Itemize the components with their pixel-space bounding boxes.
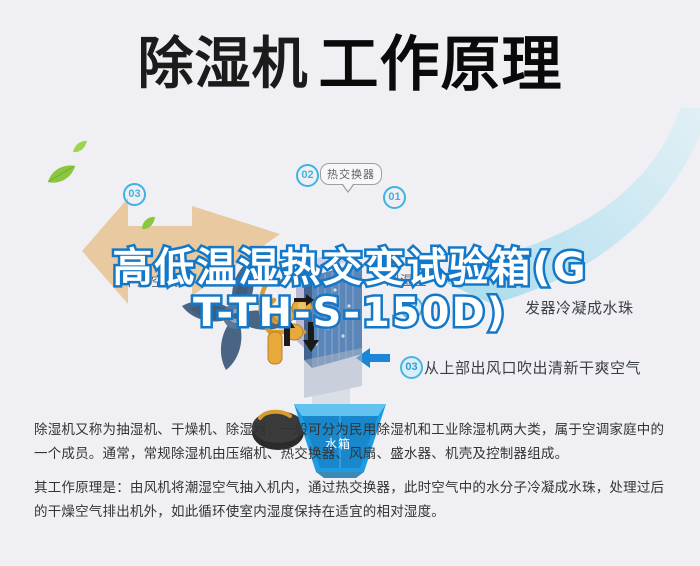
label-humid-air: 潮湿空气	[386, 270, 442, 289]
callout-badge-02: 02	[400, 296, 423, 319]
body-paragraph-2: 其工作原理是：由风机将潮湿空气抽入机内，通过热交换器，此时空气中的水分子冷凝成水…	[34, 476, 668, 524]
page-title: 除湿机 工作原理	[0, 26, 700, 104]
leaf-icon	[72, 140, 88, 154]
callout-text-condense: 发器冷凝成水珠	[525, 297, 634, 318]
leaf-icon	[46, 164, 76, 186]
diagram-badge-01: 01	[383, 186, 406, 209]
leaf-icon	[152, 256, 166, 270]
page-root: 除湿机 工作原理	[0, 0, 700, 566]
dehumidifier-diagram: 03 干燥空气 02 热交换器 01 潮湿空气 水箱	[0, 108, 700, 398]
page-title-part1: 除湿机	[138, 37, 309, 93]
callout-badge-03: 03	[400, 356, 423, 379]
article-body: 除湿机又称为抽湿机、干燥机、除湿器，一般可分为民用除湿机和工业除湿机两大类，属于…	[34, 418, 668, 534]
leaf-icon	[140, 216, 156, 231]
page-title-part2: 工作原理	[319, 35, 563, 95]
callout-text-outlet: 从上部出风口吹出清新干爽空气	[424, 357, 641, 378]
label-dry-air: 干燥空气	[123, 271, 179, 290]
diagram-badge-02: 02	[296, 164, 319, 187]
diagram-badge-03: 03	[123, 183, 146, 206]
body-paragraph-1: 除湿机又称为抽湿机、干燥机、除湿器，一般可分为民用除湿机和工业除湿机两大类，属于…	[34, 418, 668, 466]
heat-exchanger-bubble: 热交换器	[320, 163, 382, 185]
